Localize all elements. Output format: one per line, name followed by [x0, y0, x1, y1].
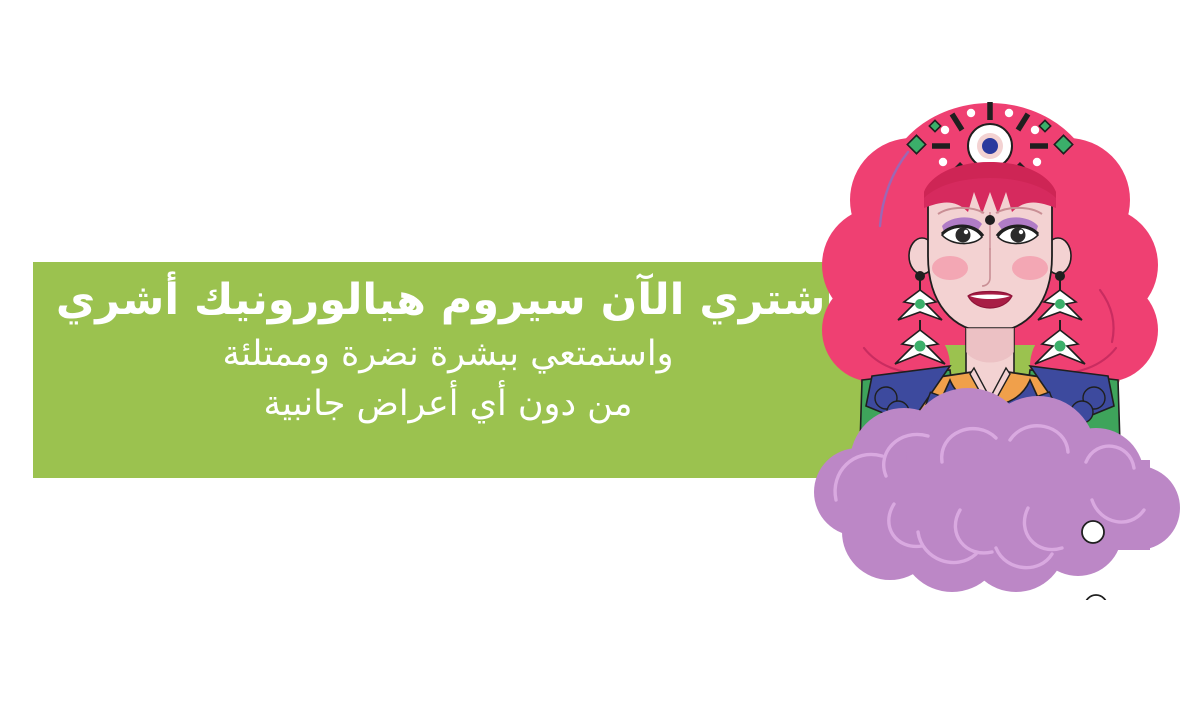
banner-copy-block: اشتري الآن سيروم هيالورونيك أشري واستمتع…	[33, 262, 863, 478]
banner-subline-1: واستمتعي ببشرة نضرة وممتلئة	[33, 330, 863, 380]
banner-subline-2: من دون أي أعراض جانبية	[33, 380, 863, 430]
promo-banner-canvas: اشتري الآن سيروم هيالورونيك أشري واستمتع…	[0, 0, 1200, 702]
woman-illustration	[800, 80, 1180, 600]
banner-headline: اشتري الآن سيروم هيالورونيك أشري	[33, 276, 863, 324]
